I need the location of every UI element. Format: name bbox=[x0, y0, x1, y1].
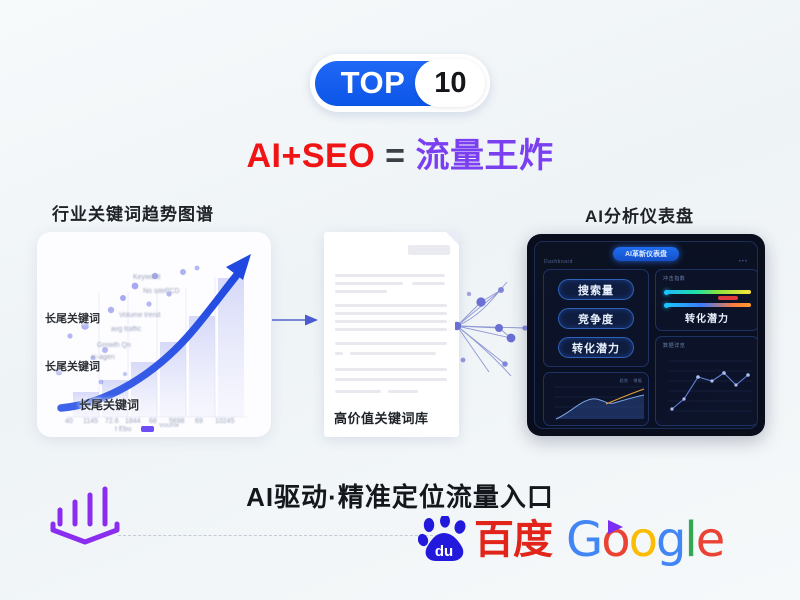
doc-title-label: 高价值关键词库 bbox=[334, 408, 429, 427]
chart-blur-text-2: No sitePCD bbox=[143, 288, 180, 295]
chart-axis-tick-7: 10245 bbox=[215, 418, 234, 425]
dashboard-screen: AI革新仪表盘 Dashboard ••• 搜索量 竞争度 转化潜力 趋势 · … bbox=[534, 241, 758, 429]
chart-keyword-label-1: 长尾关键词 bbox=[45, 310, 100, 326]
doc-bullet bbox=[335, 352, 343, 355]
baidu-logo: du 百度 bbox=[418, 516, 552, 564]
chart-legend-swatch bbox=[141, 426, 154, 432]
trend-chart-svg bbox=[37, 232, 271, 437]
top-badge: TOP 10 bbox=[310, 54, 491, 112]
gauge-bar-impact bbox=[665, 290, 751, 294]
dashboard-menu-icon[interactable]: ••• bbox=[739, 259, 748, 265]
metric-button-conversion[interactable]: 转化潜力 bbox=[558, 337, 634, 358]
page-fold-icon bbox=[446, 232, 459, 245]
gauge-knob-2 bbox=[664, 303, 669, 308]
baidu-text-label: 百度 bbox=[474, 520, 552, 560]
dashboard-metric-panel: 搜索量 竞争度 转化潜力 bbox=[543, 269, 649, 367]
headline-right: 流量王炸 bbox=[416, 137, 554, 175]
baidu-du-text: du bbox=[435, 543, 453, 560]
chart-blur-text-6: rc-agen bbox=[91, 354, 115, 361]
chart-blur-text-4: avg traffic bbox=[111, 326, 141, 333]
ai-dashboard-device: AI革新仪表盘 Dashboard ••• 搜索量 竞争度 转化潜力 趋势 · … bbox=[527, 234, 765, 436]
area-chart-svg bbox=[544, 373, 650, 427]
doc-text-line bbox=[335, 304, 447, 307]
chart-keyword-label-3: 长尾关键词 bbox=[79, 396, 139, 413]
metric-button-competition[interactable]: 竞争度 bbox=[558, 308, 634, 329]
section-title-left: 行业关键词趋势图谱 bbox=[52, 200, 214, 225]
chart-axis-tick-4: 68 bbox=[149, 418, 157, 425]
google-letter-g2: g bbox=[656, 512, 684, 568]
doc-text-line bbox=[335, 282, 403, 285]
keyword-trend-chart-card: 长尾关键词 长尾关键词 长尾关键词 Keyword No sitePCD Vol… bbox=[37, 232, 271, 437]
gauge-panel-caption: 冲击指数 bbox=[663, 275, 685, 282]
chart-axis-tick-0: 40 bbox=[65, 418, 73, 425]
flow-arrow-icon bbox=[272, 312, 320, 328]
line-chart-svg bbox=[656, 337, 758, 427]
chart-axis-tick-2: 72.6 bbox=[105, 418, 119, 425]
dashboard-area-chart-panel: 趋势 · 增幅 bbox=[543, 372, 649, 426]
chart-legend-label: Volume bbox=[159, 423, 179, 429]
doc-text-line bbox=[335, 290, 387, 293]
doc-text-line bbox=[335, 378, 447, 381]
top-badge-wrapper: TOP 10 bbox=[0, 54, 800, 112]
keyword-network-graph bbox=[455, 272, 533, 380]
chart-axis-tick-3: 1844 bbox=[125, 418, 141, 425]
doc-text-line bbox=[335, 312, 447, 315]
divider-line bbox=[118, 535, 448, 536]
doc-text-line bbox=[335, 320, 447, 323]
doc-text-line bbox=[335, 328, 447, 331]
doc-text-line bbox=[335, 342, 447, 345]
dashboard-subtitle: Dashboard bbox=[544, 259, 573, 265]
chart-blur-text-1: Keyword bbox=[133, 274, 160, 281]
google-letter-o2: o bbox=[629, 512, 656, 568]
dashboard-header-pill: AI革新仪表盘 bbox=[613, 247, 679, 261]
chart-blur-text-5: Growth Qn bbox=[97, 342, 131, 349]
headline-left: AI+SEO bbox=[246, 137, 375, 175]
doc-text-line bbox=[388, 390, 418, 393]
gauge-overlay-label: 转化潜力 bbox=[656, 310, 758, 325]
chart-axis-note: t Ebu bbox=[115, 426, 131, 433]
page-title: AI+SEO=流量王炸 bbox=[0, 128, 800, 177]
top-badge-label: TOP bbox=[315, 61, 432, 106]
google-logo: Google bbox=[566, 516, 723, 564]
top-badge-number: 10 bbox=[415, 59, 485, 107]
doc-header-block bbox=[408, 245, 450, 255]
bar-chart-icon bbox=[48, 484, 122, 546]
slide-canvas: TOP 10 AI+SEO=流量王炸 行业关键词趋势图谱 AI分析仪表盘 bbox=[0, 0, 800, 600]
doc-text-line bbox=[335, 368, 447, 371]
doc-text-line bbox=[350, 352, 436, 355]
chart-axis-tick-1: 1145 bbox=[83, 418, 98, 425]
google-letter-e: e bbox=[696, 512, 724, 568]
chart-blur-text-3: Volume trend bbox=[119, 312, 160, 319]
metric-button-search-volume[interactable]: 搜索量 bbox=[558, 279, 634, 300]
doc-text-line bbox=[335, 390, 381, 393]
play-arrow-icon bbox=[604, 518, 626, 536]
section-title-right: AI分析仪表盘 bbox=[585, 202, 694, 227]
baidu-paw-icon: du bbox=[418, 516, 472, 564]
doc-text-line bbox=[335, 274, 445, 277]
keyword-library-document: 高价值关键词库 bbox=[324, 232, 459, 437]
doc-text-line bbox=[412, 282, 445, 285]
gauge-knob-1 bbox=[664, 290, 669, 295]
google-letter-g1: G bbox=[566, 512, 601, 568]
dashboard-line-chart-panel: 数据详览 bbox=[655, 336, 758, 426]
gauge-bar-conversion bbox=[665, 303, 751, 307]
gauge-chip-alert bbox=[718, 296, 738, 300]
google-letter-l: l bbox=[684, 512, 695, 568]
chart-axis-tick-6: 69 bbox=[195, 418, 203, 425]
headline-equals: = bbox=[385, 137, 405, 175]
search-engine-logos: du 百度 Google bbox=[418, 516, 723, 564]
dashboard-gauge-panel: 冲击指数 转化潜力 bbox=[655, 269, 758, 331]
